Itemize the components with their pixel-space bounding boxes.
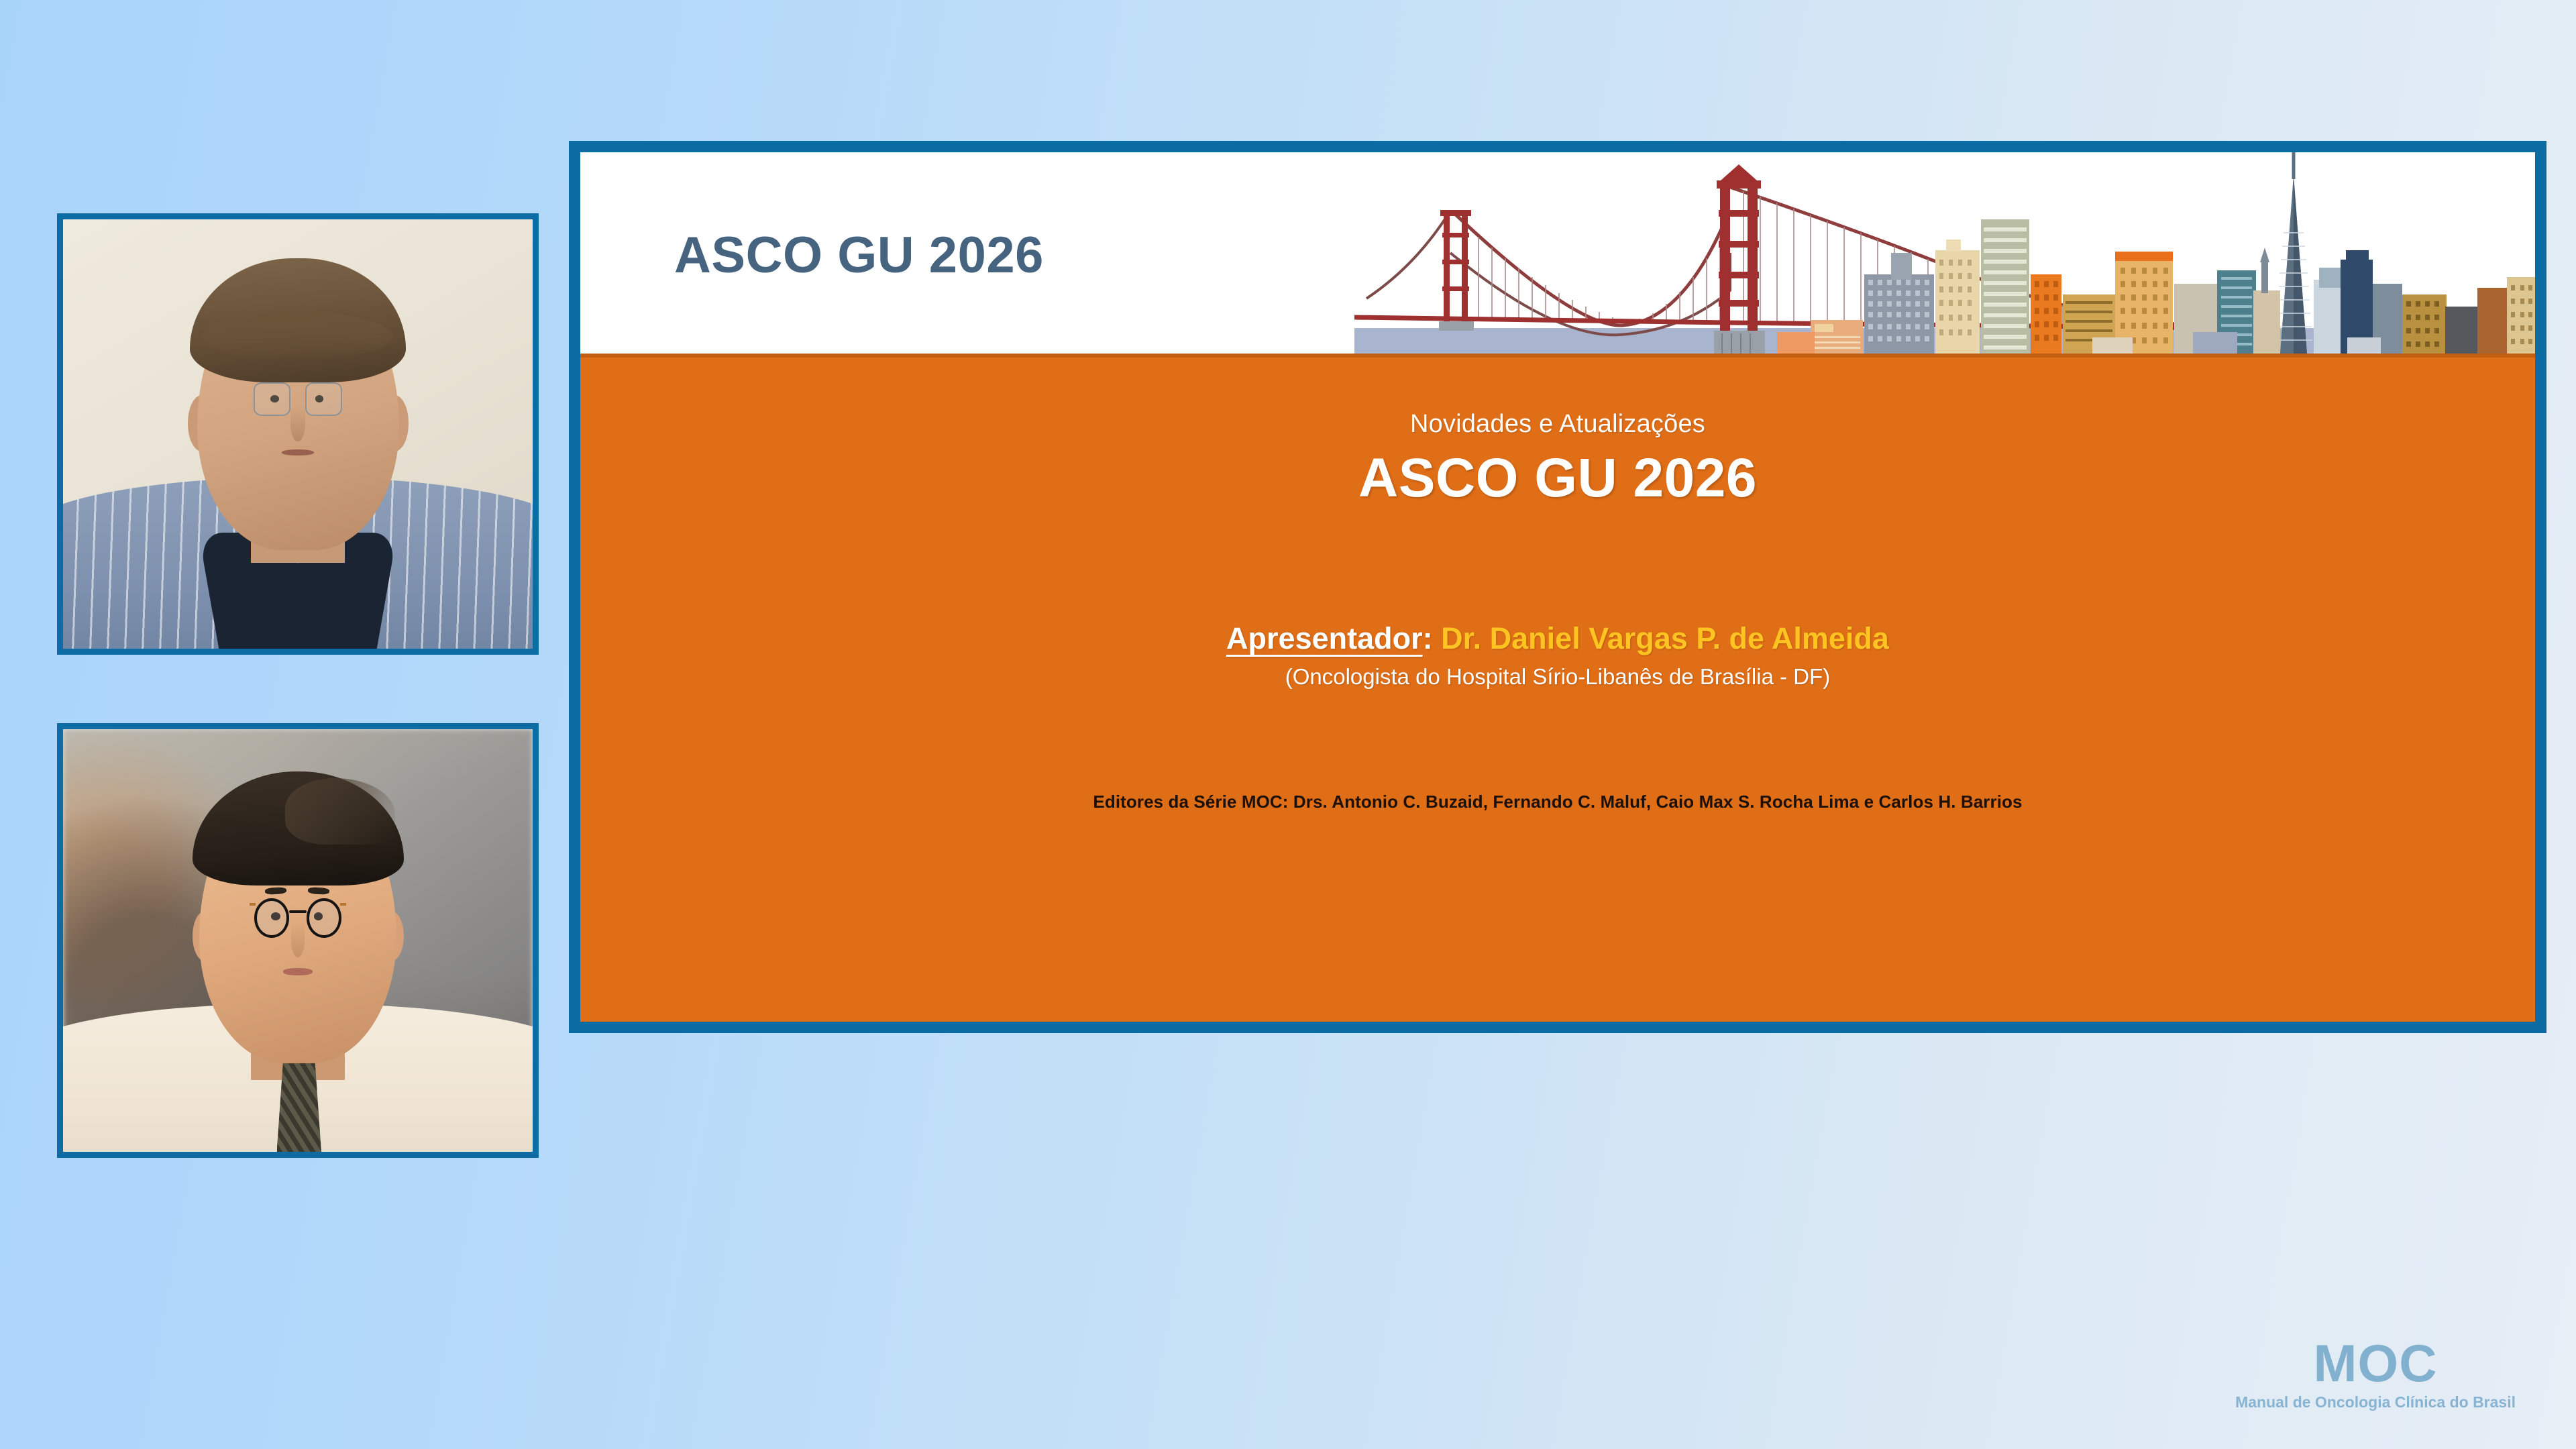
banner-title: ASCO GU 2026 [674, 226, 1044, 284]
participant-2-glasses-temple-left [250, 903, 256, 906]
participant-2-lens-left [254, 898, 289, 937]
presenter-name: Dr. Daniel Vargas P. de Almeida [1441, 621, 1889, 655]
slide-body: Novidades e Atualizações ASCO GU 2026 Ap… [580, 354, 2535, 1022]
participant-2-brow-right [307, 887, 329, 895]
moc-logo-tagline: Manual de Oncologia Clínica do Brasil [2235, 1395, 2516, 1410]
moc-logo: MOC Manual de Oncologia Clínica do Brasi… [2235, 1337, 2516, 1410]
san-francisco-skyline-icon [1354, 152, 2535, 354]
participant-2-lens-right [307, 898, 341, 937]
participant-video-tile-1[interactable] [57, 213, 539, 655]
presenter-label: Apresentador [1226, 621, 1423, 655]
presenter-line: Apresentador: Dr. Daniel Vargas P. de Al… [580, 621, 2535, 656]
glasses-icon [254, 382, 342, 416]
participant-2-glasses-bridge [289, 910, 307, 913]
presenter-separator: : [1423, 621, 1442, 655]
participant-video-frame-1 [63, 219, 533, 649]
slide-banner: ASCO GU 2026 [580, 152, 2535, 354]
participant-1-mouth [282, 449, 314, 455]
participant-2-glasses-temple-right [340, 903, 346, 906]
slide-kicker: Novidades e Atualizações [580, 358, 2535, 439]
series-editors: Editores da Série MOC: Drs. Antonio C. B… [580, 792, 2535, 812]
participant-1-lens-right [305, 382, 343, 416]
participant-2-brow-left [265, 887, 287, 895]
round-glasses-icon [254, 898, 341, 937]
participant-video-tile-2[interactable] [57, 723, 539, 1158]
participant-1-lens-left [254, 382, 291, 416]
presentation-slide[interactable]: ASCO GU 2026 Novidades e Atualizações AS… [569, 141, 2546, 1033]
presenter-affiliation: (Oncologista do Hospital Sírio-Libanês d… [580, 664, 2535, 690]
moc-logo-mark: MOC [2235, 1337, 2516, 1389]
participant-2-necktie [277, 1051, 322, 1152]
participant-2-mouth [283, 968, 313, 975]
participant-video-frame-2 [63, 729, 533, 1152]
slide-main-title: ASCO GU 2026 [580, 447, 2535, 510]
